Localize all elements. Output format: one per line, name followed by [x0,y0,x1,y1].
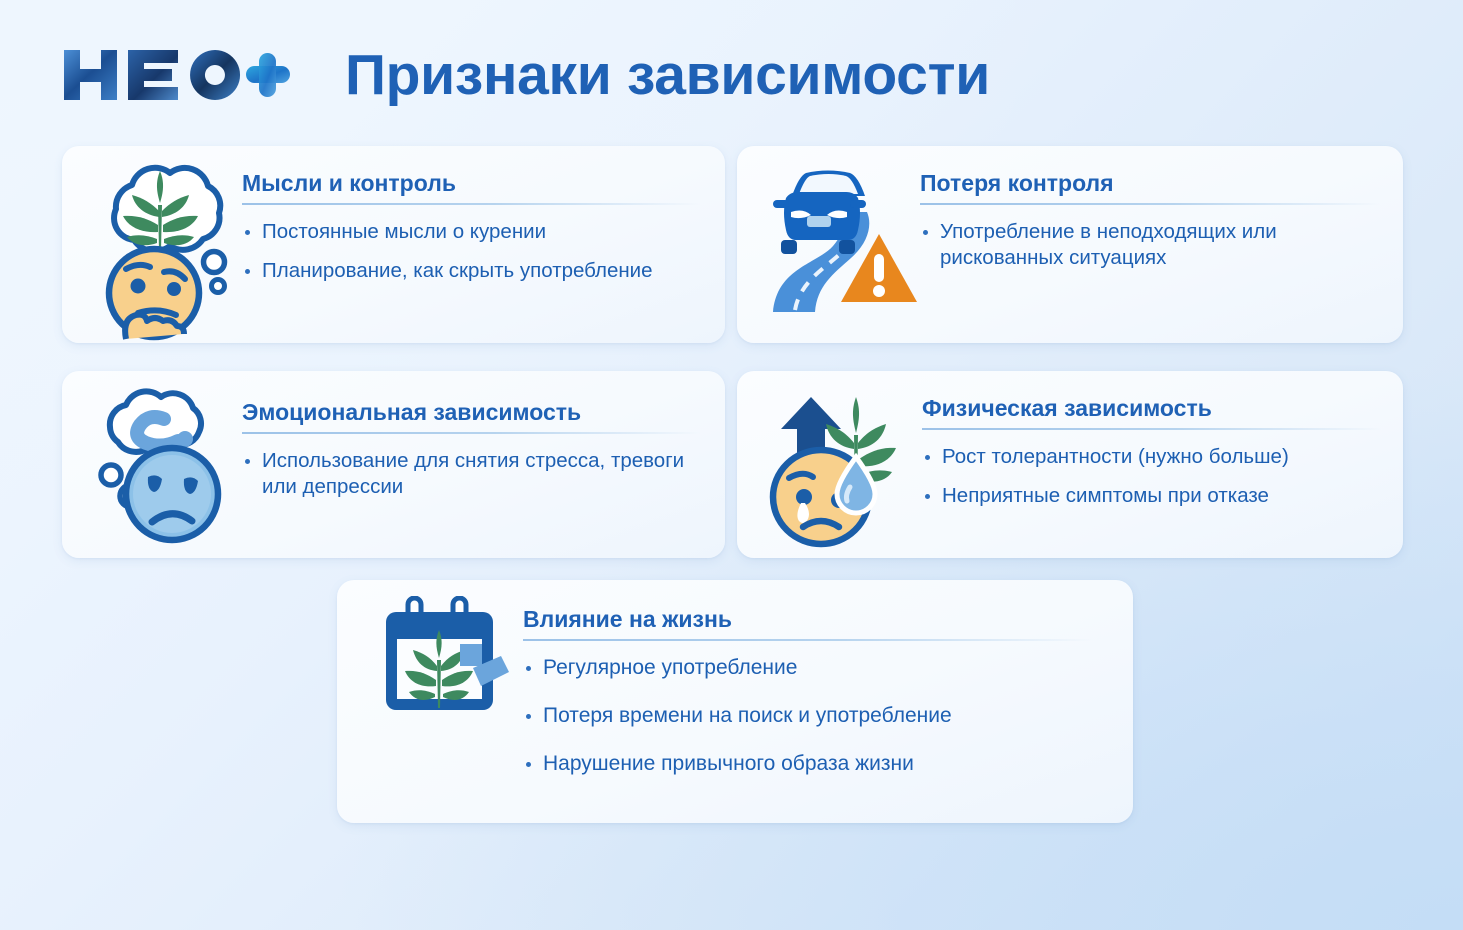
header: Признаки зависимости [0,0,1463,140]
list-item: Использование для снятия стресса, тревог… [242,448,700,500]
list-item: Постоянные мысли о курении [242,219,700,245]
card-title: Потеря контроля [920,170,1380,197]
list-item: Регулярное употребление [523,655,1093,681]
bullet-list: Употребление в неподходящих или рискован… [920,219,1380,271]
title-divider [242,432,700,434]
bullet-list: Регулярное употребление Потеря времени н… [523,655,1093,777]
card-body: Потеря контроля Употребление в неподходя… [920,170,1380,271]
card-body: Эмоциональная зависимость Использование … [242,399,700,500]
card-physical-dependence[interactable]: Физическая зависимость Рост толерантност… [737,371,1403,558]
up-arrow-cannabis-leaf-sweating-face-icon [759,379,924,549]
bullet-list: Рост толерантности (нужно больше) Неприя… [922,444,1382,509]
title-divider [922,428,1382,430]
card-title: Мысли и контроль [242,170,700,197]
card-body: Физическая зависимость Рост толерантност… [922,395,1382,509]
list-item: Нарушение привычного образа жизни [523,751,1093,777]
card-impact-on-life[interactable]: Влияние на жизнь Регулярное употребление… [337,580,1133,823]
card-title: Эмоциональная зависимость [242,399,700,426]
card-emotional-dependence[interactable]: Эмоциональная зависимость Использование … [62,371,725,558]
sad-blue-face-with-thought-cloud-icon [86,383,246,548]
list-item: Употребление в неподходящих или рискован… [920,219,1380,271]
list-item: Рост толерантности (нужно больше) [922,444,1382,470]
neo-plus-logo [60,44,290,106]
title-divider [920,203,1380,205]
card-body: Мысли и контроль Постоянные мысли о куре… [242,170,700,284]
card-thoughts-and-control[interactable]: Мысли и контроль Постоянные мысли о куре… [62,146,725,343]
car-on-road-with-warning-triangle-icon [755,160,920,320]
card-title: Физическая зависимость [922,395,1382,422]
bullet-list: Постоянные мысли о курении Планирование,… [242,219,700,284]
infographic-canvas: Признаки зависимости [0,0,1463,930]
card-loss-of-control[interactable]: Потеря контроля Употребление в неподходя… [737,146,1403,343]
list-item: Планирование, как скрыть употребление [242,258,700,284]
title-divider [523,639,1093,641]
thinking-face-with-cannabis-thought-bubble-icon [82,154,242,344]
title-divider [242,203,700,205]
calendar-with-cannabis-leaf-icon [377,596,517,721]
list-item: Потеря времени на поиск и употребление [523,703,1093,729]
card-title: Влияние на жизнь [523,606,1093,633]
list-item: Неприятные симптомы при отказе [922,483,1382,509]
page-title: Признаки зависимости [345,44,990,106]
card-body: Влияние на жизнь Регулярное употребление… [523,606,1093,799]
bullet-list: Использование для снятия стресса, тревог… [242,448,700,500]
